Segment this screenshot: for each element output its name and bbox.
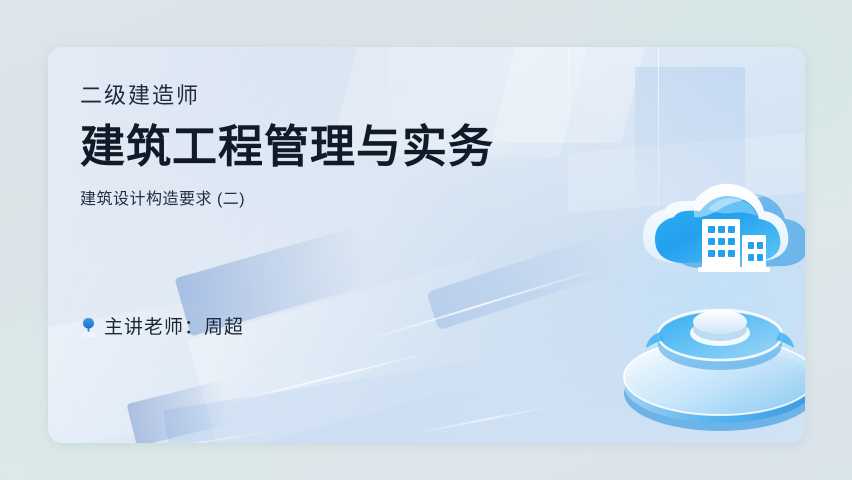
person-avatar-icon — [80, 317, 97, 338]
teacher-name-label: 主讲老师：周超 — [104, 318, 244, 337]
slide-stage: 二级建造师 建筑工程管理与实务 建筑设计构造要求 (二) — [0, 0, 852, 480]
teacher-row: 主讲老师：周超 — [80, 317, 244, 338]
page-title: 建筑工程管理与实务 — [80, 123, 600, 170]
lesson-subtitle: 建筑设计构造要求 (二) — [80, 192, 600, 208]
course-category-label: 二级建造师 — [80, 85, 600, 107]
text-block: 二级建造师 建筑工程管理与实务 建筑设计构造要求 (二) — [80, 85, 600, 208]
course-cover-card: 二级建造师 建筑工程管理与实务 建筑设计构造要求 (二) — [48, 47, 805, 443]
cloud-building-3d-icon — [608, 167, 805, 437]
